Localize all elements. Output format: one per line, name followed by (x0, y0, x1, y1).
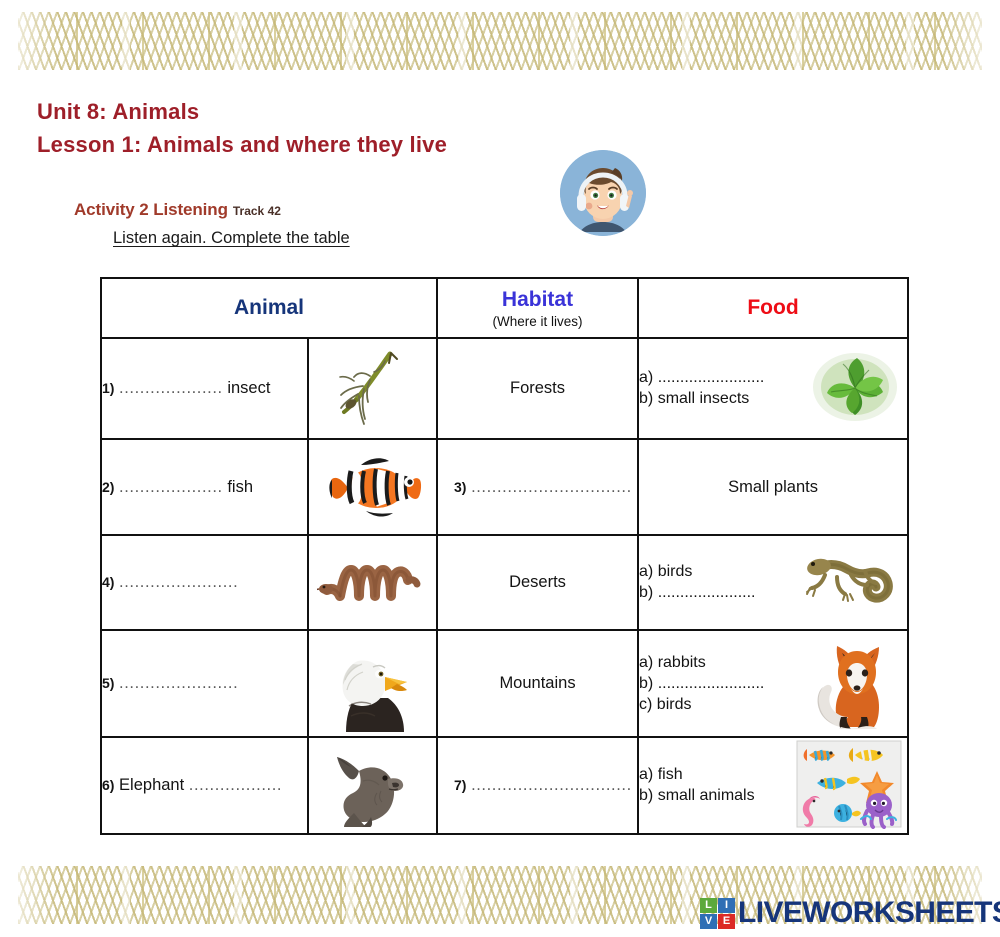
header-cell-animal: Animal (101, 278, 437, 338)
activity-block: Activity 2 ListeningTrack 42 Listen agai… (74, 200, 350, 248)
food-list: a) birds b) ...................... (639, 564, 907, 601)
habitat-label: Mountains (499, 674, 575, 692)
answer-number: 2) (102, 479, 114, 495)
food-cell[interactable]: a) birds b) ...................... (638, 535, 908, 630)
habitat-cell: Forests (437, 338, 638, 439)
habitat-answer-cell[interactable]: 3) ............................... (437, 439, 638, 535)
table-row: 4) ....................... Dese (101, 535, 908, 630)
food-list: a) ........................ b) small ins… (639, 370, 907, 407)
answer-number: 6) (102, 777, 114, 793)
animal-answer-cell[interactable]: 2) .................... fish (101, 439, 308, 535)
answer-blank[interactable]: .................... (119, 379, 223, 397)
food-item: Small plants (639, 479, 907, 496)
instruction-text: Listen again. Complete the table (113, 229, 350, 248)
food-list: a) fish b) small animals (639, 767, 907, 804)
header-label-animal: Animal (102, 296, 436, 320)
answer-blank[interactable]: ....................... (119, 674, 238, 692)
header-label-habitat: Habitat (438, 288, 637, 312)
header-cell-habitat: Habitat (Where it lives) (437, 278, 638, 338)
answer-blank[interactable]: ....................... (119, 573, 238, 591)
animal-label: Elephant (119, 776, 184, 794)
worksheet-page: Unit 8: Animals Lesson 1: Animals and wh… (0, 0, 1000, 937)
logo-text: LIVEWORKSHEETS (738, 896, 1000, 930)
answer-blank[interactable]: .................. (189, 776, 282, 794)
header-sublabel-habitat: (Where it lives) (438, 314, 637, 329)
answer-blank[interactable]: ............................... (471, 478, 632, 496)
logo-tiles: L I V E (700, 898, 735, 929)
habitat-answer-cell[interactable]: 7) ............................... (437, 737, 638, 834)
animal-answer-cell[interactable]: 1) .................... insect (101, 338, 308, 439)
habitat-cell: Deserts (437, 535, 638, 630)
deco-pattern-hex-gaps (18, 12, 982, 70)
answer-blank[interactable]: .................... (119, 478, 223, 496)
answer-blank[interactable]: ............................... (471, 776, 632, 794)
table-row: 2) .................... fish (101, 439, 908, 535)
food-item: a) birds (639, 564, 907, 580)
habitat-label: Forests (510, 379, 565, 397)
boy-with-headphones-icon (560, 150, 646, 236)
food-cell[interactable]: a) rabbits b) ........................ c… (638, 630, 908, 737)
food-cell: a) fish b) small animals (638, 737, 908, 834)
page-title: Unit 8: Animals Lesson 1: Animals and wh… (37, 95, 447, 161)
food-list: Small plants (639, 479, 907, 496)
stick-insect-photo (308, 338, 437, 439)
food-item[interactable]: b) ........................ (639, 676, 907, 692)
logo-tile-l: L (700, 898, 717, 913)
answer-number: 4) (102, 574, 114, 590)
food-item: c) birds (639, 697, 907, 713)
habitat-label: Deserts (509, 573, 566, 591)
food-item: a) fish (639, 767, 907, 783)
habitat-cell: Mountains (437, 630, 638, 737)
activity-track: Track 42 (233, 204, 281, 218)
activity-title: Activity 2 Listening (74, 200, 228, 219)
animal-label: insect (227, 379, 270, 397)
lesson-title: Lesson 1: Animals and where they live (37, 128, 447, 161)
food-item[interactable]: a) ........................ (639, 370, 907, 386)
answer-number: 5) (102, 675, 114, 691)
decorative-border-top (0, 8, 1000, 76)
unit-title: Unit 8: Animals (37, 95, 447, 128)
activity-heading: Activity 2 ListeningTrack 42 (74, 200, 350, 220)
worksheet-table: Animal Habitat (Where it lives) Food 1) … (100, 277, 909, 835)
snake-photo (308, 535, 437, 630)
food-item: a) rabbits (639, 655, 907, 671)
food-list: a) rabbits b) ........................ c… (639, 655, 907, 713)
header-cell-food: Food (638, 278, 908, 338)
table-row: 6) Elephant .................. (101, 737, 908, 834)
answer-number: 3) (454, 479, 466, 495)
bald-eagle-photo (308, 630, 437, 737)
table-row: 1) .................... insect (101, 338, 908, 439)
elephant-seal-photo (308, 737, 437, 834)
clownfish-photo (308, 439, 437, 535)
animal-answer-cell[interactable]: 4) ....................... (101, 535, 308, 630)
animal-label: fish (227, 478, 253, 496)
logo-tile-v: V (700, 914, 717, 929)
table-row: 5) ....................... (101, 630, 908, 737)
liveworksheets-logo[interactable]: L I V E LIVEWORKSHEETS (700, 896, 1000, 930)
animal-answer-cell[interactable]: 6) Elephant .................. (101, 737, 308, 834)
food-cell[interactable]: a) ........................ b) small ins… (638, 338, 908, 439)
header-label-food: Food (639, 296, 907, 320)
food-item[interactable]: b) ...................... (639, 585, 907, 601)
animal-answer-cell[interactable]: 5) ....................... (101, 630, 308, 737)
food-cell: Small plants (638, 439, 908, 535)
table-header-row: Animal Habitat (Where it lives) Food (101, 278, 908, 338)
food-item: b) small animals (639, 788, 907, 804)
answer-number: 1) (102, 380, 114, 396)
food-item: b) small insects (639, 391, 907, 407)
logo-tile-i: I (718, 898, 735, 913)
answer-number: 7) (454, 777, 466, 793)
logo-tile-e: E (718, 914, 735, 929)
